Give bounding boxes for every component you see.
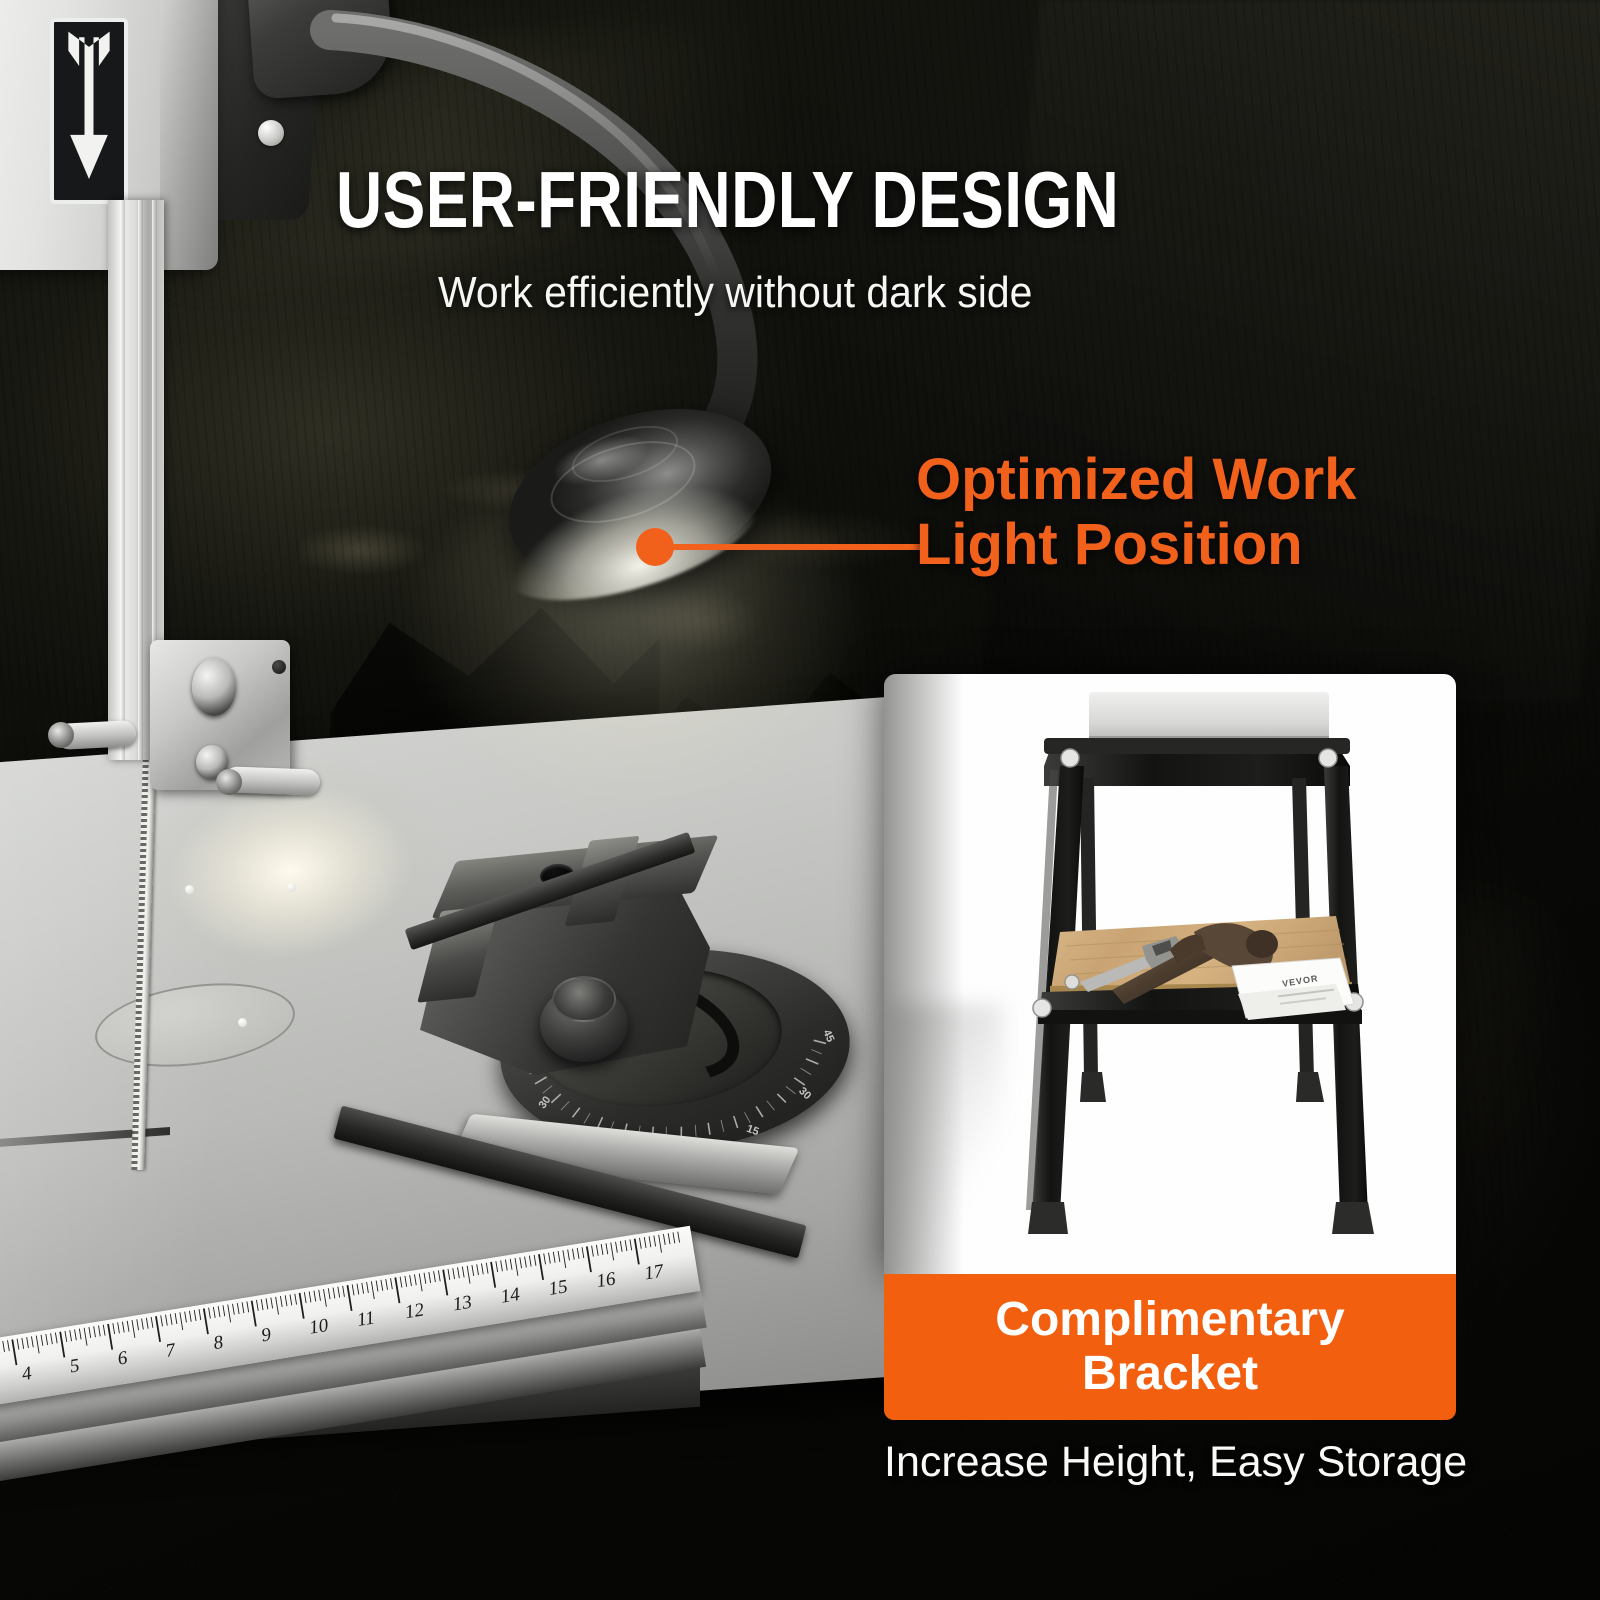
page-subtitle: Work efficiently without dark side xyxy=(438,268,1032,318)
svg-text:30: 30 xyxy=(537,1094,554,1111)
ruler-number: 14 xyxy=(499,1284,521,1309)
downward-arrow-decal xyxy=(50,18,128,204)
page-title: USER-FRIENDLY DESIGN xyxy=(336,160,1072,240)
svg-text:45: 45 xyxy=(820,1028,836,1044)
bracket-inset-photo: VEVOR xyxy=(884,674,1456,1274)
table-pin xyxy=(287,883,296,892)
complimentary-bracket-stand xyxy=(884,674,1456,1274)
miter-lock-knob-top xyxy=(552,976,616,1022)
complimentary-bracket-banner: Complimentary Bracket xyxy=(884,1274,1456,1420)
callout-line-1: Optimized Work xyxy=(916,448,1356,513)
product-feature-image: 45 30 15 0 15 30 45 23456789101112131415… xyxy=(0,0,1600,1600)
callout-line-2: Light Position xyxy=(916,513,1356,578)
down-arrow-icon xyxy=(54,22,124,200)
table-pin xyxy=(185,885,194,894)
guide-setscrew xyxy=(272,660,286,674)
ruler-number: 15 xyxy=(547,1276,569,1301)
svg-text:15: 15 xyxy=(745,1123,761,1138)
guide-rod-end xyxy=(48,722,74,748)
guide-rod-end xyxy=(216,769,242,795)
guide-post-rib xyxy=(120,200,125,760)
banner-label: Complimentary Bracket xyxy=(995,1293,1344,1401)
guide-post-rib xyxy=(138,200,143,760)
table-pin xyxy=(238,1018,247,1027)
ruler-number: 13 xyxy=(451,1292,473,1317)
ruler-number: 17 xyxy=(643,1261,665,1286)
svg-text:30: 30 xyxy=(796,1085,813,1102)
callout-leader-line xyxy=(672,544,924,550)
guide-bearing xyxy=(192,658,236,716)
ruler-number: 16 xyxy=(595,1268,617,1293)
ruler-number: 10 xyxy=(308,1315,330,1340)
callout-label: Optimized Work Light Position xyxy=(916,448,1356,578)
ruler-number: 11 xyxy=(356,1307,377,1332)
ruler-number: 12 xyxy=(403,1299,425,1324)
callout-leader-dot xyxy=(636,528,674,566)
inset-caption: Increase Height, Easy Storage xyxy=(884,1438,1484,1487)
